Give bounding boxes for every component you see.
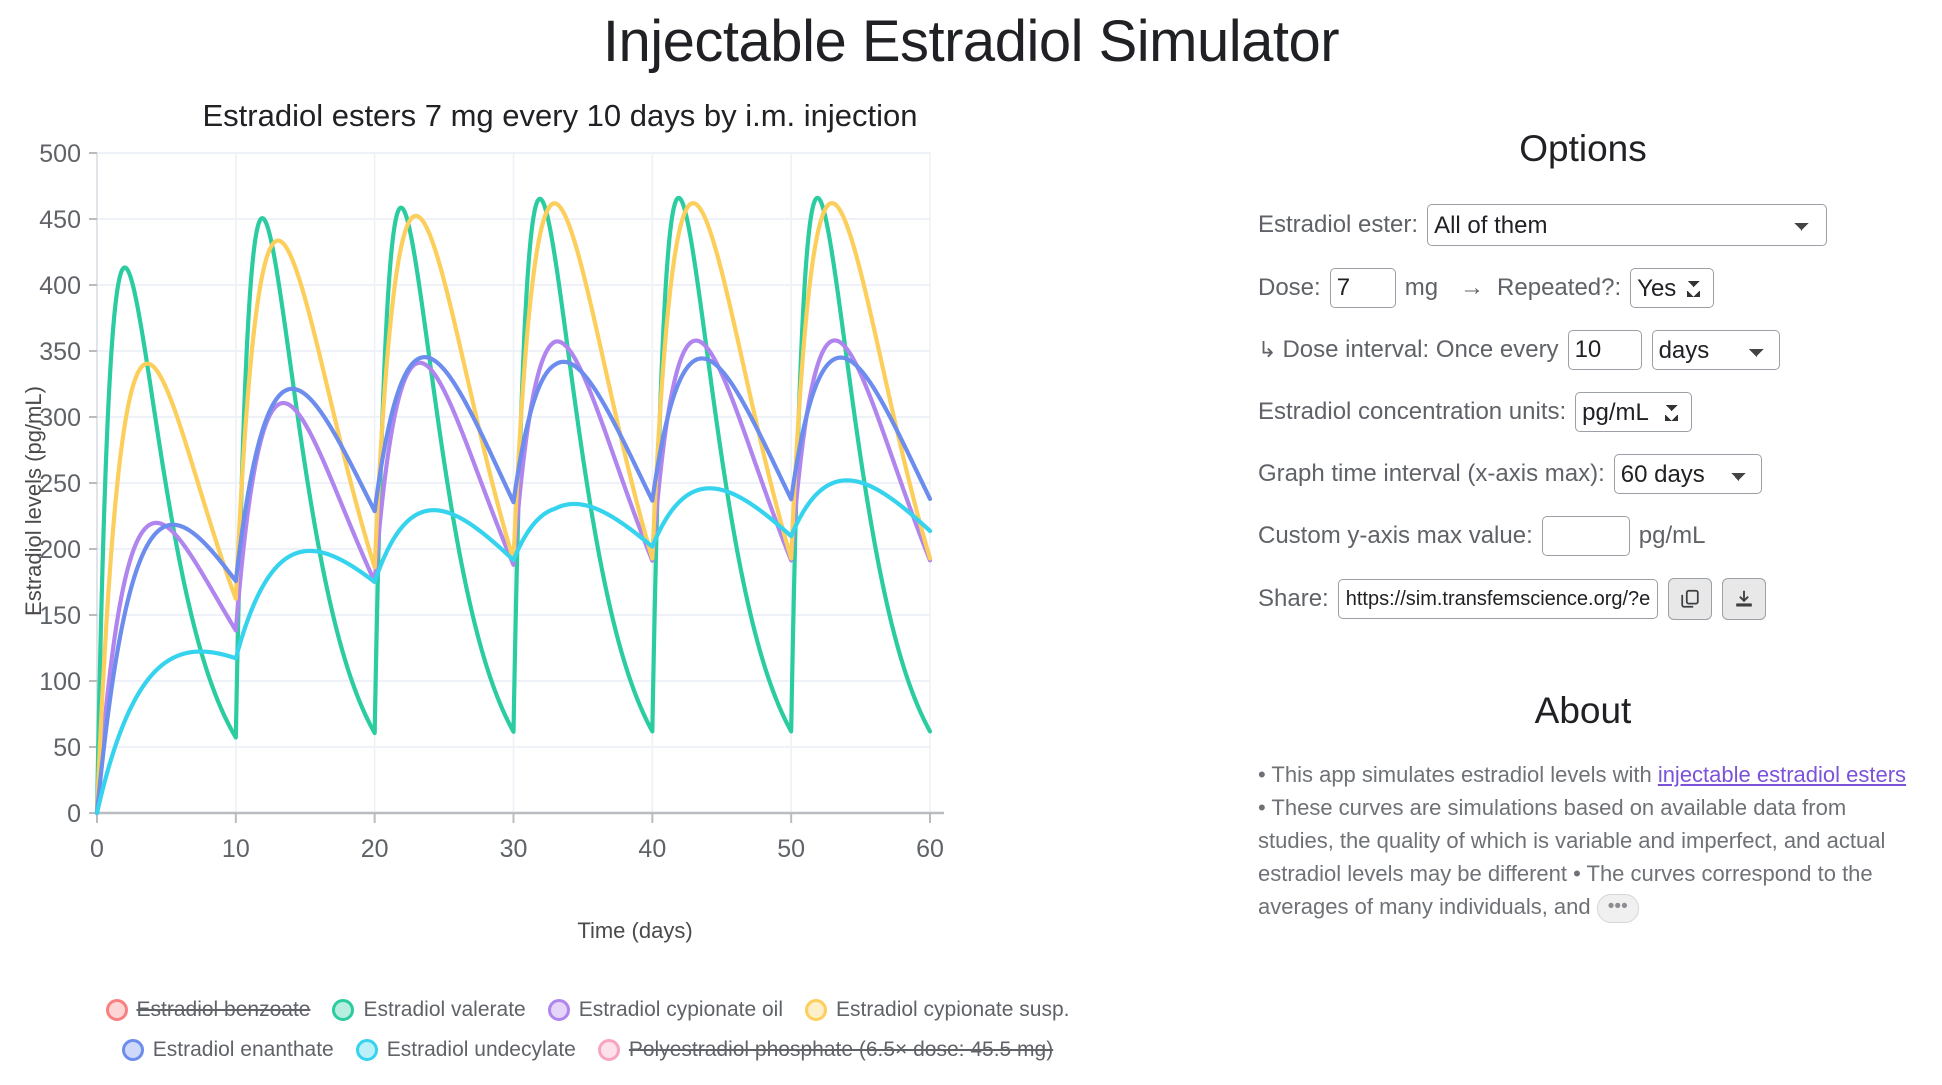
arrow-icon: → [1460,274,1484,302]
hook-arrow-icon: ↳ [1258,337,1276,363]
x-tick-label: 30 [500,835,528,863]
options-panel: Options Estradiol ester: All of themEstr… [1258,128,1908,642]
legend-color-dot [548,999,570,1021]
interval-unit-select[interactable]: daysweeksmonths [1652,330,1780,370]
legend-item-label: Estradiol undecylate [387,1038,576,1062]
chart-plot-area: 0501001502002503003504004505000102030405… [0,128,1175,918]
option-row-share: Share: [1258,578,1908,620]
dose-unit-label: mg [1405,274,1438,302]
legend-color-dot [106,999,128,1021]
app-root: Injectable Estradiol Simulator Estradiol… [0,0,1942,1085]
show-more-button[interactable]: ••• [1597,894,1639,923]
option-row-ymax: Custom y-axis max value: pg/mL [1258,516,1908,556]
share-label: Share: [1258,585,1329,613]
y-tick-label: 300 [39,404,81,432]
option-row-interval: ↳ Dose interval: Once every daysweeksmon… [1258,330,1908,370]
legend-item[interactable]: Estradiol cypionate oil [548,998,783,1022]
download-icon[interactable] [1722,578,1766,620]
ester-label: Estradiol ester: [1258,211,1418,239]
legend-color-dot [356,1039,378,1061]
legend-item[interactable]: Estradiol benzoate [106,998,311,1022]
y-tick-label: 250 [39,470,81,498]
units-label: Estradiol concentration units: [1258,398,1566,426]
legend-color-dot [598,1039,620,1061]
option-row-dose: Dose: mg → Repeated?: YesNo [1258,268,1908,308]
legend-item-label: Estradiol valerate [363,998,525,1022]
ymax-input[interactable] [1542,516,1630,556]
legend-color-dot [805,999,827,1021]
x-tick-label: 40 [638,835,666,863]
chart-container: Estradiol esters 7 mg every 10 days by i… [0,98,1175,1018]
dose-input[interactable] [1330,268,1396,308]
dose-label: Dose: [1258,274,1321,302]
chart-x-axis-label: Time (days) [115,918,1155,944]
timespan-label: Graph time interval (x-axis max): [1258,460,1605,488]
x-tick-label: 20 [361,835,389,863]
x-tick-label: 50 [777,835,805,863]
copy-icon[interactable] [1668,578,1712,620]
y-tick-label: 100 [39,668,81,696]
legend-item[interactable]: Estradiol enanthate [122,1038,334,1062]
option-row-units: Estradiol concentration units: pg/mLpmol… [1258,392,1908,432]
option-row-timespan: Graph time interval (x-axis max): 10 day… [1258,454,1908,494]
ymax-unit-label: pg/mL [1639,522,1706,550]
about-panel: About • This app simulates estradiol lev… [1258,690,1908,923]
y-tick-label: 350 [39,338,81,366]
x-tick-label: 60 [916,835,944,863]
y-tick-label: 200 [39,536,81,564]
options-heading: Options [1258,128,1908,170]
x-tick-label: 0 [90,835,104,863]
share-url-input[interactable] [1338,579,1658,619]
about-text-part-2: • These curves are simulations based on … [1258,795,1885,919]
legend-item[interactable]: Estradiol valerate [332,998,525,1022]
interval-label: Dose interval: Once every [1282,336,1558,364]
legend-item[interactable]: Estradiol cypionate susp. [805,998,1069,1022]
option-row-ester: Estradiol ester: All of themEstradiol be… [1258,204,1908,246]
legend-item[interactable]: Estradiol undecylate [356,1038,576,1062]
interval-input[interactable] [1568,330,1642,370]
repeated-select[interactable]: YesNo [1630,268,1714,308]
about-text-part-1: • This app simulates estradiol levels wi… [1258,762,1658,787]
legend-item-label: Estradiol cypionate oil [579,998,783,1022]
legend-color-dot [122,1039,144,1061]
y-tick-label: 500 [39,140,81,168]
ester-select[interactable]: All of themEstradiol benzoateEstradiol v… [1427,204,1827,246]
chart-legend: Estradiol benzoateEstradiol valerateEstr… [0,990,1175,1070]
y-tick-label: 450 [39,206,81,234]
injectable-esters-link[interactable]: injectable estradiol esters [1658,762,1906,787]
legend-item-label: Estradiol enanthate [153,1038,334,1062]
y-tick-label: 400 [39,272,81,300]
ymax-label: Custom y-axis max value: [1258,522,1533,550]
timespan-select[interactable]: 10 days20 days30 days60 days90 days180 d… [1614,454,1762,494]
legend-color-dot [332,999,354,1021]
y-tick-label: 0 [67,800,81,828]
legend-item-label: Estradiol benzoate [137,998,311,1022]
units-select[interactable]: pg/mLpmol/L [1575,392,1692,432]
about-heading: About [1258,690,1908,732]
legend-item-label: Polyestradiol phosphate (6.5× dose: 45.5… [629,1038,1053,1062]
y-tick-label: 50 [53,734,81,762]
legend-item[interactable]: Polyestradiol phosphate (6.5× dose: 45.5… [598,1038,1053,1062]
about-text: • This app simulates estradiol levels wi… [1258,758,1908,923]
legend-item-label: Estradiol cypionate susp. [836,998,1069,1022]
page-title: Injectable Estradiol Simulator [0,8,1942,75]
legend-row: Estradiol benzoateEstradiol valerateEstr… [0,990,1175,1030]
legend-row: Estradiol enanthateEstradiol undecylateP… [0,1030,1175,1070]
repeated-label: Repeated?: [1497,274,1621,302]
x-tick-label: 10 [222,835,250,863]
y-tick-label: 150 [39,602,81,630]
